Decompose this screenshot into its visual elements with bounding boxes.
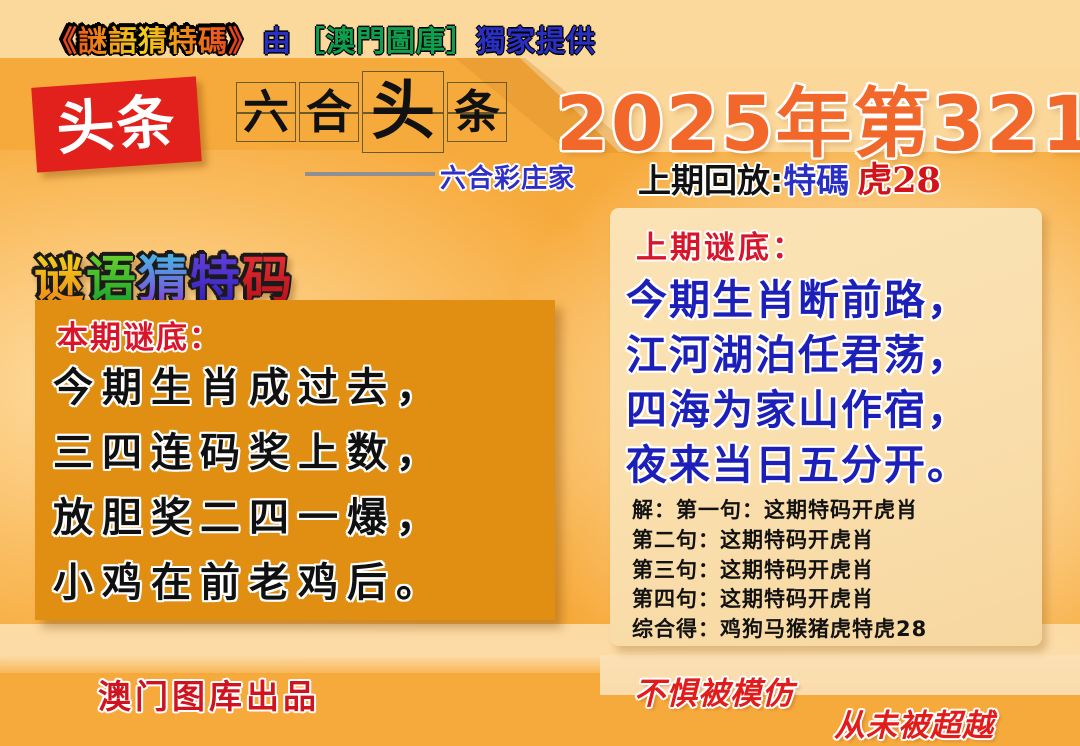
grid-cell-2-char: 合 [306,89,352,135]
explanation-line-3: 第三句：这期特码开虎肖 [632,556,1032,586]
current-riddle-line-4: 小鸡在前老鸡后。 [53,550,553,608]
poster-canvas: 《謎語猜特碼》由［澳門圖庫］獨家提供 头条 六 合 头 条 六合彩庄家 2025… [0,0,1080,746]
recall-value: 虎28 [857,160,941,201]
explanation-line-1: 解：第一句：这期特码开虎肖 [632,496,1032,526]
grid-cell-4: 条 [447,82,507,142]
previous-draw-recall: 上期回放:特碼虎28 [638,152,941,203]
explanation-line-4: 第四句：这期特码开虎肖 [632,585,1032,615]
explanation-block: 解：第一句：这期特码开虎肖 第二句：这期特码开虎肖 第三句：这期特码开虎肖 第四… [632,496,1032,645]
current-riddle-line-3: 放胆奖二四一爆， [53,485,553,543]
strapline-exclusive: 獨家提供 [476,18,596,60]
explanation-line-2: 第二句：这期特码开虎肖 [632,526,1032,556]
grid-cell-4-char: 条 [454,89,500,135]
footer-slogan-1: 不惧被模仿 [634,668,794,713]
recall-label: 上期回放: [638,161,783,200]
previous-riddle-heading: 上期谜底： [636,222,806,267]
grid-cell-3: 头 [362,71,444,153]
grid-cell-2: 合 [299,82,359,142]
recall-special-label: 特碼 [783,161,849,200]
strapline-bracket-open: ［ [296,18,326,60]
grid-cell-1: 六 [236,82,296,142]
sub-tagline: 六合彩庄家 [440,158,575,195]
footer-slogan-2: 从未被超越 [834,700,994,745]
grid-cell-3-char: 头 [371,80,435,144]
current-riddle-line-1: 今期生肖成过去， [53,355,553,413]
divider-rule [305,172,435,176]
previous-riddle-line-4: 夜来当日五分开。 [626,431,1036,491]
previous-riddle-card: 上期谜底： 今期生肖断前路， 江河湖泊任君荡， 四海为家山作宿， 夜来当日五分开… [610,208,1042,646]
footer-brand: 澳门图库出品 [98,670,320,718]
strapline-bracket-close: ］ [446,18,476,60]
strapline-by: 由 [262,18,292,60]
headline-badge: 头条 [31,76,202,172]
previous-riddle-line-1: 今期生肖断前路， [626,266,1036,326]
strapline-title: 《謎語猜特碼》 [48,18,258,60]
grid-cell-1-char: 六 [243,89,289,135]
grid-title: 六 合 头 条 [236,82,510,153]
explanation-line-5: 综合得：鸡狗马猴猪虎特虎28 [632,615,1032,645]
strapline-source: 澳門圖庫 [326,18,446,60]
current-riddle-heading: 本期谜底： [57,312,222,357]
headline-badge-label: 头条 [55,91,179,157]
previous-riddle-line-3: 四海为家山作宿， [626,376,1036,436]
current-riddle-card: 本期谜底： 今期生肖成过去， 三四连码奖上数， 放胆奖二四一爆， 小鸡在前老鸡后… [35,300,555,620]
current-riddle-line-2: 三四连码奖上数， [53,420,553,478]
strapline: 《謎語猜特碼》由［澳門圖庫］獨家提供 [48,18,596,60]
previous-riddle-line-2: 江河湖泊任君荡， [626,321,1036,381]
